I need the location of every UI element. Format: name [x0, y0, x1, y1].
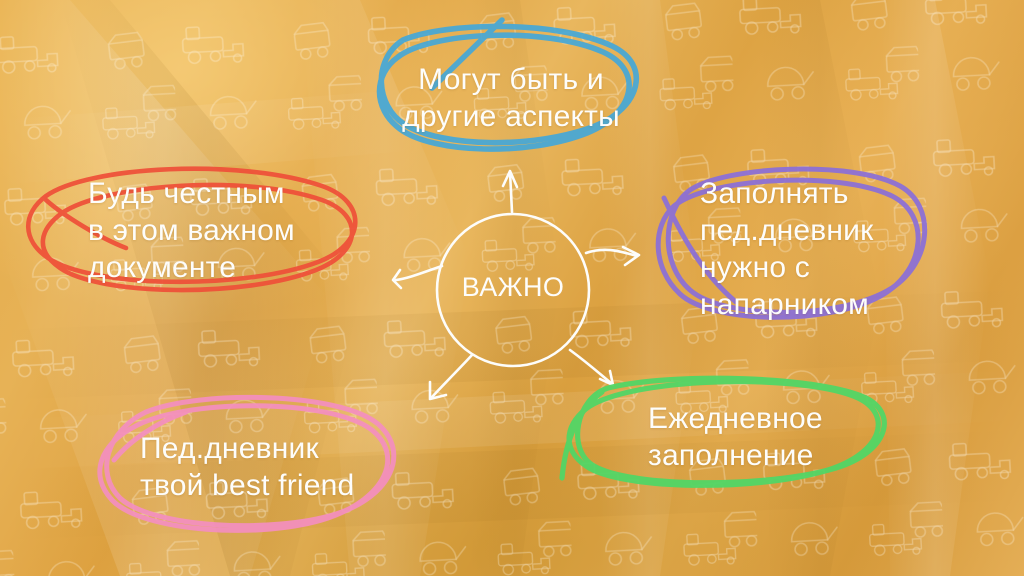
center-label: ВАЖНО [452, 270, 574, 304]
callout-text-pink: Пед.дневник твой best friend [140, 430, 365, 504]
slide-canvas: Могут быть и другие аспекты Будь честным… [0, 0, 1024, 576]
callout-text-blue: Могут быть и другие аспекты [400, 61, 622, 135]
arrow-down-right-icon [570, 350, 613, 385]
arrow-down-left-icon [430, 355, 472, 399]
arrow-up-icon [503, 171, 517, 212]
callout-text-red: Будь честным в этом важном документе [88, 175, 303, 286]
arrow-left-icon [393, 266, 442, 288]
callout-text-green: Ежедневное заполнение [648, 400, 880, 474]
callout-text-purple: Заполнять пед.дневник нужно с напарником [700, 175, 904, 323]
arrow-up-right-icon [586, 247, 639, 265]
